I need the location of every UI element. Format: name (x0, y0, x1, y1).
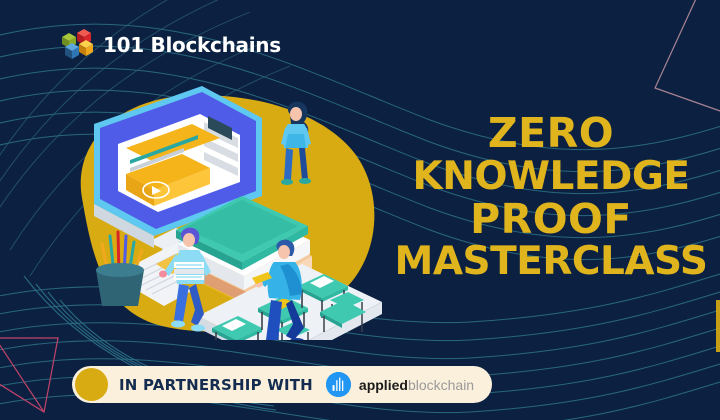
partner-name-bold: applied (359, 377, 408, 393)
brand-logo[interactable]: 101 Blockchains (60, 28, 281, 62)
title-line-1: ZERO (392, 112, 710, 156)
partner-name: appliedblockchain (359, 377, 474, 393)
partner-logo[interactable]: appliedblockchain (326, 372, 474, 397)
carried-books (174, 262, 204, 280)
applied-blockchain-bars-icon (326, 372, 351, 397)
partnership-banner: IN PARTNERSHIP WITH appliedblockchain (72, 366, 492, 403)
brand-name: 101 Blockchains (103, 33, 281, 57)
title-line-2: KNOWLEDGE (392, 156, 710, 198)
title-line-3: PROOF (392, 198, 710, 242)
e-learning-classroom-illustration (52, 78, 397, 340)
title-line-4: MASTERCLASS (392, 241, 710, 283)
page-title: ZERO KNOWLEDGE PROOF MASTERCLASS (392, 112, 710, 283)
partnership-label: IN PARTNERSHIP WITH (119, 376, 313, 394)
four-cubes-icon (60, 28, 94, 62)
yellow-dot-icon (75, 368, 108, 401)
promo-banner: 101 Blockchains (0, 0, 720, 420)
partner-name-light: blockchain (408, 377, 474, 393)
